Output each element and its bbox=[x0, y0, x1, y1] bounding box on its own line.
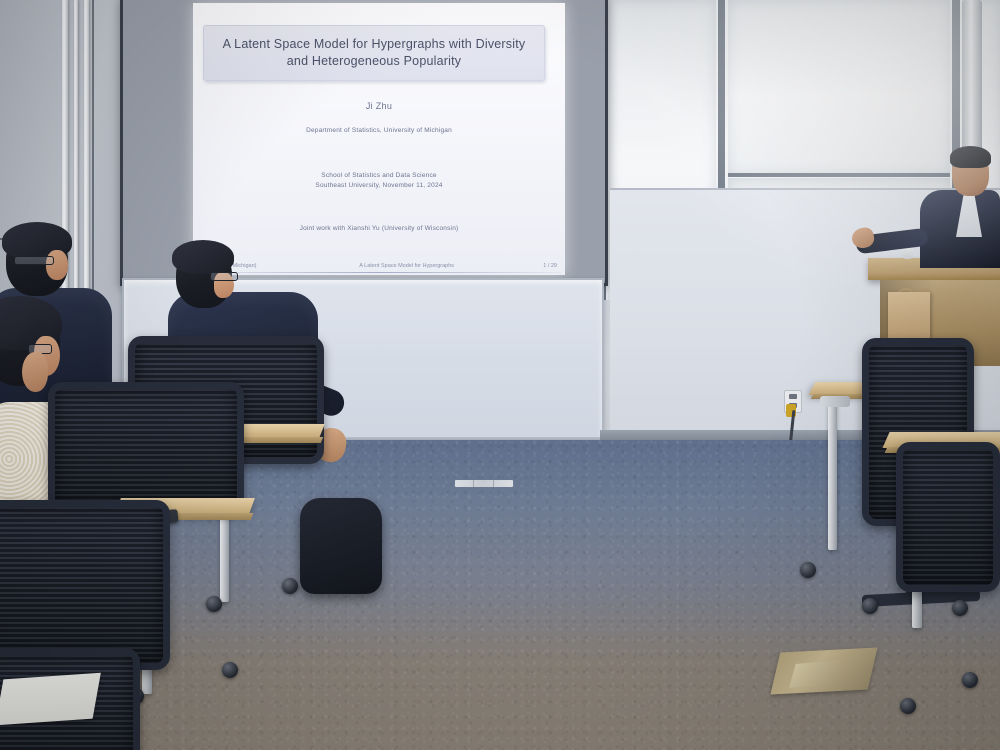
empty-chair[interactable] bbox=[896, 442, 1000, 592]
attendee-mid-glasses bbox=[14, 256, 54, 265]
caster bbox=[800, 562, 816, 578]
caster bbox=[222, 662, 238, 678]
slide-venue-line1: School of Statistics and Data Science bbox=[193, 171, 565, 181]
presenter-hair bbox=[950, 146, 991, 168]
caster bbox=[862, 598, 878, 614]
slide-venue: School of Statistics and Data Science So… bbox=[193, 171, 565, 191]
window-shade bbox=[728, 0, 950, 175]
caster bbox=[206, 596, 222, 612]
desk-arm bbox=[820, 396, 850, 407]
attendee-center-glasses bbox=[210, 272, 238, 281]
slide-affiliation: Department of Statistics, University of … bbox=[193, 127, 565, 134]
caster bbox=[282, 578, 298, 594]
desk-leg bbox=[828, 398, 837, 550]
slide-venue-line2: Southeast University, November 11, 2024 bbox=[193, 181, 565, 191]
slide-footer-page: 1 / 29 bbox=[485, 263, 565, 269]
attendee-mid-face bbox=[46, 250, 68, 280]
floor-strip bbox=[455, 480, 513, 487]
caster bbox=[952, 600, 968, 616]
slide-footer-rule bbox=[197, 272, 561, 273]
floor-access-panel-lid bbox=[789, 660, 843, 688]
slide-joint-work: Joint work with Xianshi Yu (University o… bbox=[193, 225, 565, 232]
slide-title-box: A Latent Space Model for Hypergraphs wit… bbox=[203, 25, 545, 81]
presentation-slide: A Latent Space Model for Hypergraphs wit… bbox=[193, 3, 565, 275]
slide-author: Ji Zhu bbox=[193, 101, 565, 111]
attendee-front-hand bbox=[22, 352, 48, 392]
paper-sheets bbox=[0, 673, 101, 726]
slide-footer-center: A Latent Space Model for Hypergraphs bbox=[328, 263, 486, 269]
backpack bbox=[300, 498, 382, 594]
caster bbox=[962, 672, 978, 688]
slide-title: A Latent Space Model for Hypergraphs wit… bbox=[204, 36, 544, 70]
slide-footer: (University of Michigan) A Latent Space … bbox=[193, 260, 565, 271]
lecture-hall-photo: A Latent Space Model for Hypergraphs wit… bbox=[0, 0, 1000, 750]
audience-chair[interactable] bbox=[48, 382, 244, 512]
audience-chair[interactable] bbox=[0, 500, 170, 670]
attendee-center-hair bbox=[172, 240, 234, 274]
caster bbox=[900, 698, 916, 714]
